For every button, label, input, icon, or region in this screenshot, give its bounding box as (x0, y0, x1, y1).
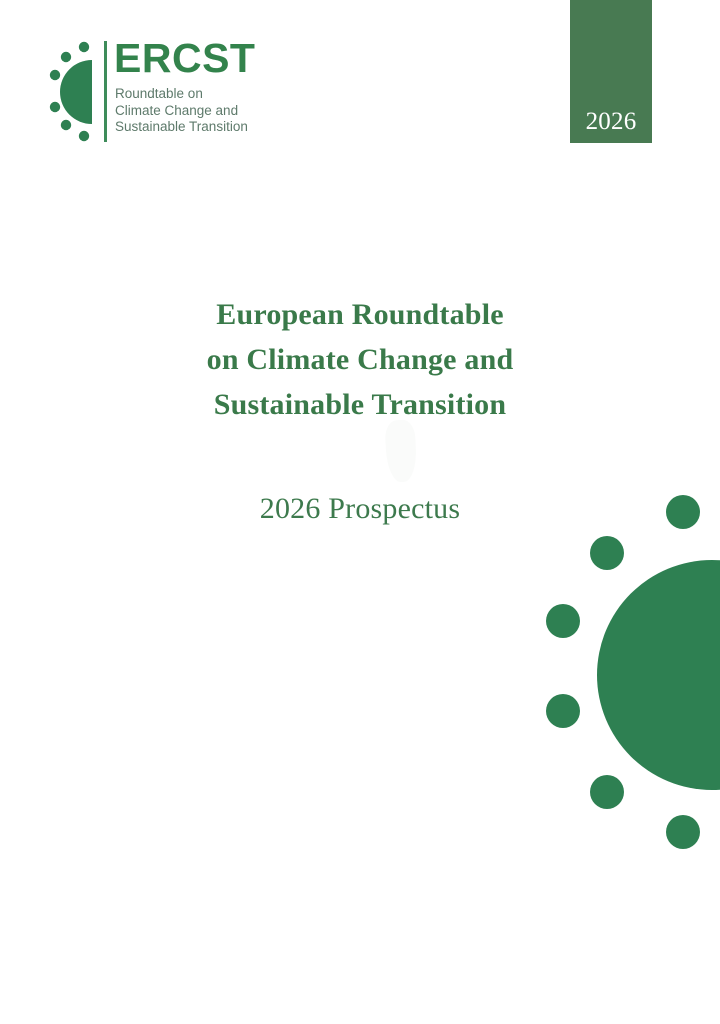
ercst-logo: ERCST Roundtable on Climate Change and S… (44, 40, 274, 145)
page-title: European Roundtable on Climate Change an… (0, 292, 720, 427)
logo-tagline: Roundtable on Climate Change and Sustain… (115, 86, 248, 136)
watermark-shape (384, 419, 417, 482)
year-banner: 2026 (570, 0, 652, 143)
logo-wordmark: ERCST (114, 38, 255, 79)
logo-divider (104, 41, 107, 142)
half-sun-icon (44, 40, 110, 144)
cover-page: 2026 ERCST Roundtable on Climate Change … (0, 0, 720, 1024)
year-banner-label: 2026 (570, 109, 652, 134)
sun-burst-icon (530, 470, 720, 870)
